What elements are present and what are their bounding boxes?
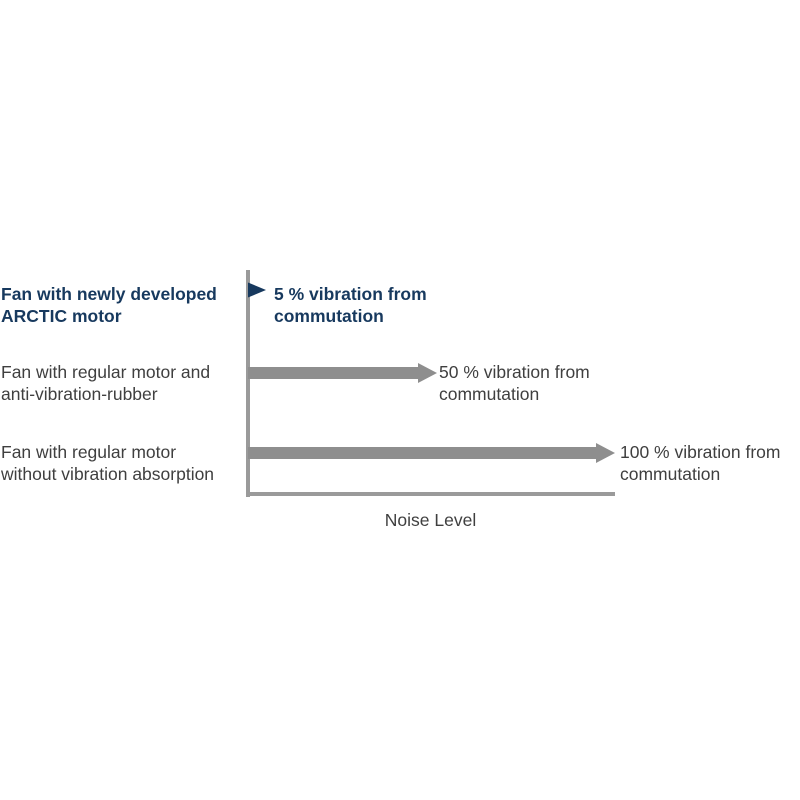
bar-series-0 [248,279,270,301]
bar-series-2 [248,442,616,464]
value-label-2: 100 % vibration from commutation [620,441,781,485]
category-label-0: Fan with newly developed ARCTIC motor [1,283,237,327]
category-label-1: Fan with regular motor and anti-vibratio… [1,361,237,405]
category-label-2: Fan with regular motor without vibration… [1,441,237,485]
value-label-1: 50 % vibration from commutation [439,361,590,405]
noise-level-bar-chart: Fan with newly developed ARCTIC motor Fa… [0,0,800,800]
bar-series-1 [248,362,438,384]
x-axis-title: Noise Level [246,510,615,531]
value-label-0: 5 % vibration from commutation [274,283,427,327]
x-axis-line [246,492,615,496]
